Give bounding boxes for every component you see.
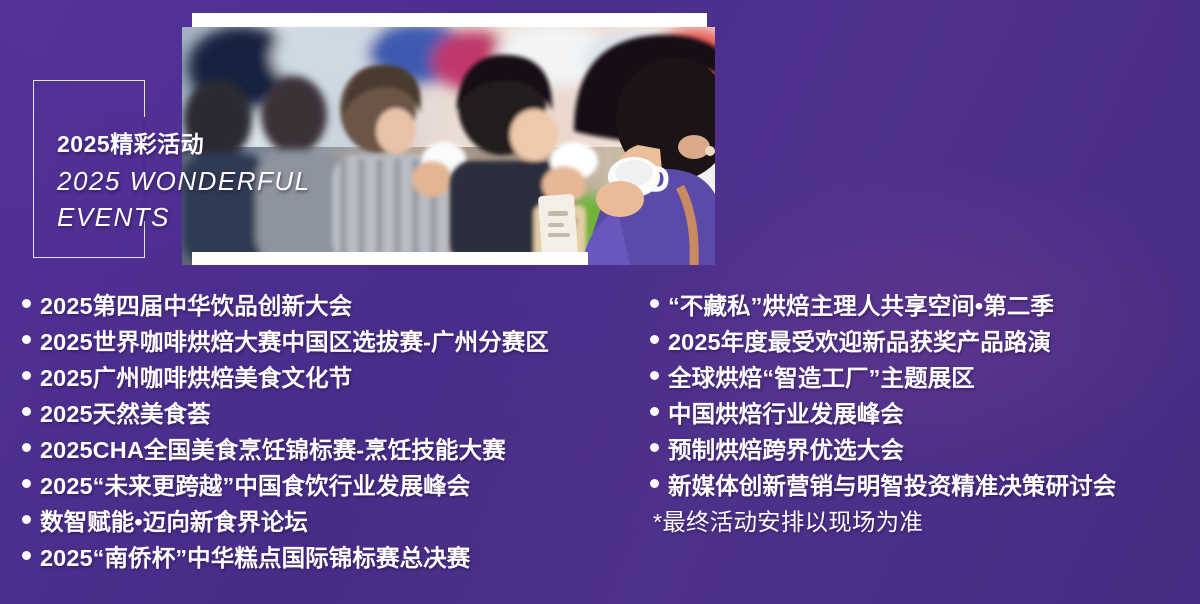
list-item-label: 中国烘焙行业发展峰会 bbox=[668, 396, 904, 432]
list-item[interactable]: 中国烘焙行业发展峰会 bbox=[650, 396, 1190, 432]
events-poster: 2025精彩活动 2025 WONDERFUL EVENTS 2025第四届中华… bbox=[0, 0, 1200, 604]
list-item-label: 数智赋能•迈向新食界论坛 bbox=[40, 504, 308, 540]
list-item-label: 2025年度最受欢迎新品获奖产品路演 bbox=[668, 324, 1051, 360]
list-item[interactable]: 全球烘焙“智造工厂”主题展区 bbox=[650, 360, 1190, 396]
bullet-icon bbox=[22, 443, 31, 452]
bullet-icon bbox=[22, 407, 31, 416]
events-right-column: “不藏私”烘焙主理人共享空间•第二季 2025年度最受欢迎新品获奖产品路演 全球… bbox=[650, 288, 1190, 540]
photo-top-accent-bar bbox=[192, 13, 707, 27]
list-item-label: “不藏私”烘焙主理人共享空间•第二季 bbox=[668, 288, 1054, 324]
list-item[interactable]: “不藏私”烘焙主理人共享空间•第二季 bbox=[650, 288, 1190, 324]
list-item[interactable]: 2025第四届中华饮品创新大会 bbox=[22, 288, 642, 324]
list-item-label: 2025广州咖啡烘焙美食文化节 bbox=[40, 360, 352, 396]
list-item-label: 预制烘焙跨界优选大会 bbox=[668, 432, 904, 468]
bullet-icon bbox=[22, 371, 31, 380]
bullet-icon bbox=[22, 479, 31, 488]
list-item[interactable]: 新媒体创新营销与明智投资精准决策研讨会 bbox=[650, 468, 1190, 504]
bullet-icon bbox=[22, 551, 31, 560]
bullet-icon bbox=[650, 479, 659, 488]
bullet-icon bbox=[650, 443, 659, 452]
events-left-column: 2025第四届中华饮品创新大会 2025世界咖啡烘焙大赛中国区选拔赛-广州分赛区… bbox=[22, 288, 642, 576]
hero-section: 2025精彩活动 2025 WONDERFUL EVENTS bbox=[0, 0, 1200, 280]
list-item[interactable]: 2025天然美食荟 bbox=[22, 396, 642, 432]
bullet-icon bbox=[22, 515, 31, 524]
bullet-icon bbox=[650, 299, 659, 308]
list-item[interactable]: 2025“未来更跨越”中国食饮行业发展峰会 bbox=[22, 468, 642, 504]
list-item-label: 全球烘焙“智造工厂”主题展区 bbox=[668, 360, 975, 396]
list-item[interactable]: 2025广州咖啡烘焙美食文化节 bbox=[22, 360, 642, 396]
list-item[interactable]: 2025“南侨杯”中华糕点国际锦标赛总决赛 bbox=[22, 540, 642, 576]
list-item-label: 2025“南侨杯”中华糕点国际锦标赛总决赛 bbox=[40, 540, 470, 576]
list-item[interactable]: 2025CHA全国美食烹饪锦标赛-烹饪技能大赛 bbox=[22, 432, 642, 468]
bullet-icon bbox=[22, 299, 31, 308]
bullet-icon bbox=[650, 335, 659, 344]
list-item-label: 新媒体创新营销与明智投资精准决策研讨会 bbox=[668, 468, 1116, 504]
hero-title-cn: 2025精彩活动 bbox=[57, 125, 204, 159]
list-item-label: 2025第四届中华饮品创新大会 bbox=[40, 288, 352, 324]
list-item-label: 2025世界咖啡烘焙大赛中国区选拔赛-广州分赛区 bbox=[40, 324, 549, 360]
hero-title-en: 2025 WONDERFUL EVENTS bbox=[57, 163, 311, 235]
list-item[interactable]: 2025年度最受欢迎新品获奖产品路演 bbox=[650, 324, 1190, 360]
list-item[interactable]: 2025世界咖啡烘焙大赛中国区选拔赛-广州分赛区 bbox=[22, 324, 642, 360]
list-item-label: 2025“未来更跨越”中国食饮行业发展峰会 bbox=[40, 468, 470, 504]
bullet-icon bbox=[650, 407, 659, 416]
events-lists: 2025第四届中华饮品创新大会 2025世界咖啡烘焙大赛中国区选拔赛-广州分赛区… bbox=[0, 288, 1200, 604]
list-item[interactable]: 预制烘焙跨界优选大会 bbox=[650, 432, 1190, 468]
list-item-label: 2025CHA全国美食烹饪锦标赛-烹饪技能大赛 bbox=[40, 432, 506, 468]
list-item[interactable]: 数智赋能•迈向新食界论坛 bbox=[22, 504, 642, 540]
events-footnote: *最终活动安排以现场为准 bbox=[650, 504, 1190, 540]
list-item-label: 2025天然美食荟 bbox=[40, 396, 211, 432]
bullet-icon bbox=[22, 335, 31, 344]
bullet-icon bbox=[650, 371, 659, 380]
photo-bottom-accent-bar bbox=[192, 252, 588, 265]
